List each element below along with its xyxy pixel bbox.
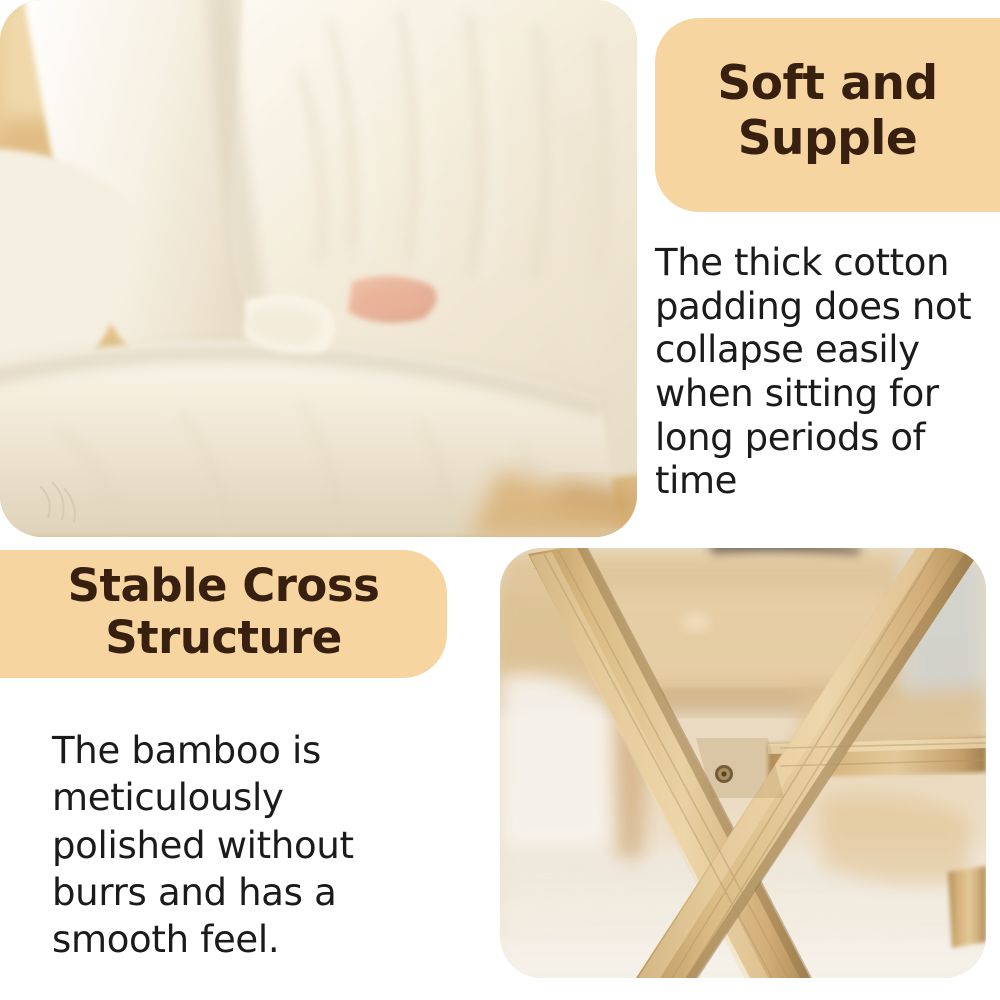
heading-badge-soft-and-supple: Soft and Supple <box>655 18 1000 212</box>
bamboo-cross-photo-art <box>500 548 986 978</box>
heading-title-stable-cross-structure: Stable Cross Structure <box>20 560 427 664</box>
infographic-page: Soft and Supple The thick cotton padding… <box>0 0 1000 1000</box>
body-text-stable-cross-structure: The bamboo is meticulously polished with… <box>52 727 452 964</box>
heading-badge-stable-cross-structure: Stable Cross Structure <box>0 550 447 678</box>
bamboo-cross-photo <box>500 548 986 978</box>
cushion-photo <box>0 0 637 537</box>
cushion-photo-art <box>0 0 637 537</box>
body-text-soft-and-supple: The thick cotton padding does not collap… <box>655 241 995 503</box>
heading-title-soft-and-supple: Soft and Supple <box>681 57 974 166</box>
